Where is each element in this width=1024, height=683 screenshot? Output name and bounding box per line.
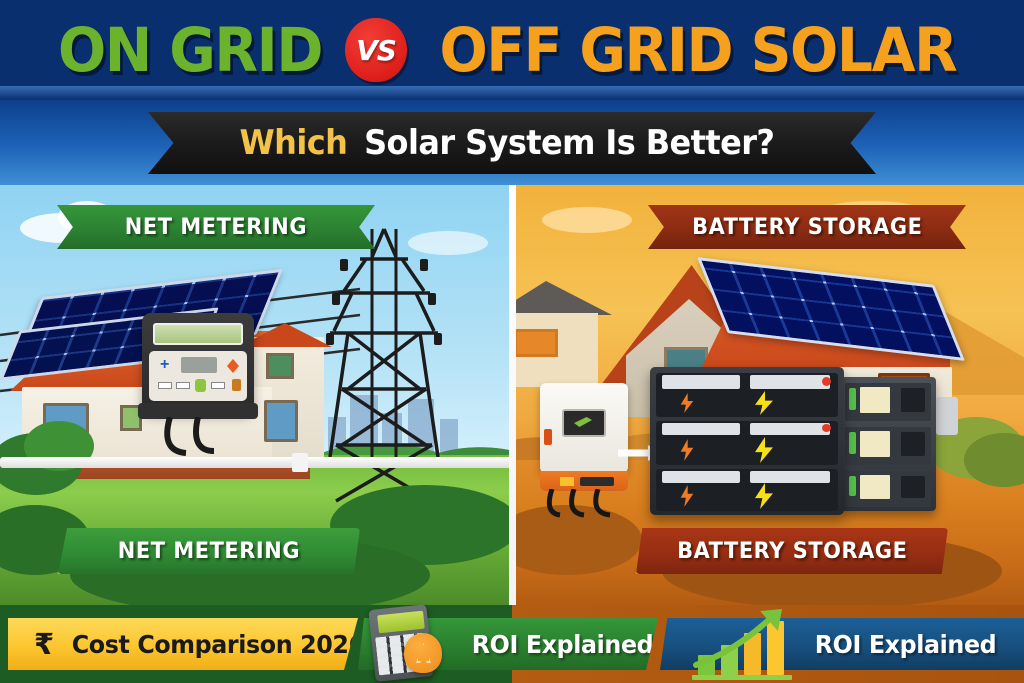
left-bottom-banner: NET METERING (58, 528, 360, 574)
battery-label-strip (662, 423, 740, 435)
meter-button[interactable] (158, 382, 172, 389)
inverter-icon (540, 383, 632, 509)
utility-box-icon (936, 397, 958, 435)
transmission-tower-icon (326, 219, 512, 519)
battery-led (822, 377, 831, 386)
meter-sub-display (181, 357, 217, 373)
battery-label-strip (750, 375, 830, 389)
cabinet-led (849, 388, 856, 410)
battery-label-strip (750, 471, 830, 483)
inverter-cables-icon (540, 489, 632, 523)
house-window (264, 400, 298, 442)
strip-cost-comparison-label: Cost Comparison 2026 (72, 630, 365, 659)
inverter-vent (580, 477, 614, 486)
neighbour-window (514, 329, 558, 357)
inverter-led (544, 429, 552, 445)
meter-cables-icon (142, 417, 254, 463)
meter-led (232, 379, 241, 391)
lightning-bolt-icon (680, 439, 694, 461)
lightning-bolt-icon (680, 393, 694, 413)
subtitle-highlight: Which (240, 123, 348, 163)
vs-badge-label: VS (356, 34, 396, 67)
cloud-icon (542, 207, 632, 233)
cabinet-switch[interactable] (901, 388, 925, 412)
title-right-word: OFF GRID SOLAR (440, 20, 957, 81)
right-top-banner-label: BATTERY STORAGE (692, 215, 922, 240)
left-bottom-banner-label: NET METERING (118, 539, 300, 564)
battery-label-strip (662, 375, 740, 389)
meter-plus-icon: + (160, 359, 173, 372)
left-top-banner: NET METERING (57, 205, 375, 249)
subtitle-ribbon: Which Solar System Is Better? (148, 112, 876, 174)
strip-roi-blue-label: ROI Explained (815, 630, 997, 659)
electric-meter-icon: + (142, 313, 254, 411)
cabinet-module (845, 471, 931, 507)
cabinet-module (845, 383, 931, 421)
meter-button[interactable] (176, 382, 190, 389)
cabinet-led (849, 432, 856, 454)
title-row: ON GRID VS OFF GRID SOLAR (0, 14, 1024, 86)
bottom-strips: ₹ Cost Comparison 2026 ROI Explained ROI… (0, 605, 1024, 683)
inverter-indicator (560, 477, 574, 486)
cabinet-led (849, 476, 856, 496)
battery-label-strip (662, 471, 740, 483)
rupee-icon: ₹ (34, 627, 54, 661)
bar-chart-icon (688, 607, 808, 681)
lightning-bolt-icon (754, 483, 774, 509)
infographic-poster: ON GRID VS OFF GRID SOLAR Which Solar Sy… (0, 0, 1024, 683)
meter-spark-icon (227, 359, 239, 373)
ground-pipe (0, 457, 512, 468)
battery-label-strip (750, 423, 830, 435)
cabinet-display (860, 475, 890, 499)
battery-unit (656, 469, 838, 511)
title-left-word: ON GRID (58, 20, 322, 81)
battery-control-cabinet (840, 377, 936, 511)
subtitle-band: Which Solar System Is Better? (0, 100, 1024, 185)
battery-unit (656, 373, 838, 417)
right-top-banner: BATTERY STORAGE (648, 205, 966, 249)
right-bottom-banner-label: BATTERY STORAGE (677, 539, 907, 564)
house-gable-window (266, 353, 294, 379)
meter-panel: + (149, 351, 247, 401)
left-top-banner-label: NET METERING (125, 215, 307, 240)
battery-led (822, 424, 831, 432)
lightning-bolt-icon (754, 391, 774, 415)
lightning-bolt-icon (680, 485, 694, 507)
title-band: ON GRID VS OFF GRID SOLAR (0, 0, 1024, 100)
battery-unit (656, 421, 838, 465)
scene-divider (509, 185, 516, 605)
right-bottom-banner: BATTERY STORAGE (636, 528, 948, 574)
subtitle-rest: Solar System Is Better? (364, 123, 774, 163)
cabinet-switch[interactable] (901, 432, 925, 456)
meter-display (153, 323, 243, 345)
lightning-bolt-icon (754, 437, 774, 463)
pipe-joint (292, 453, 308, 472)
cabinet-switch[interactable] (901, 476, 925, 498)
cabinet-display (860, 431, 890, 457)
strip-roi-green-label: ROI Explained (472, 630, 654, 659)
strip-cost-comparison[interactable]: ₹ Cost Comparison 2026 (8, 618, 358, 670)
vs-badge: VS (345, 18, 407, 82)
battery-stack (650, 367, 844, 515)
meter-led (195, 379, 206, 392)
cabinet-display (860, 387, 890, 413)
meter-button[interactable] (211, 382, 225, 389)
calculator-icon (368, 607, 438, 681)
cabinet-module (845, 427, 931, 465)
